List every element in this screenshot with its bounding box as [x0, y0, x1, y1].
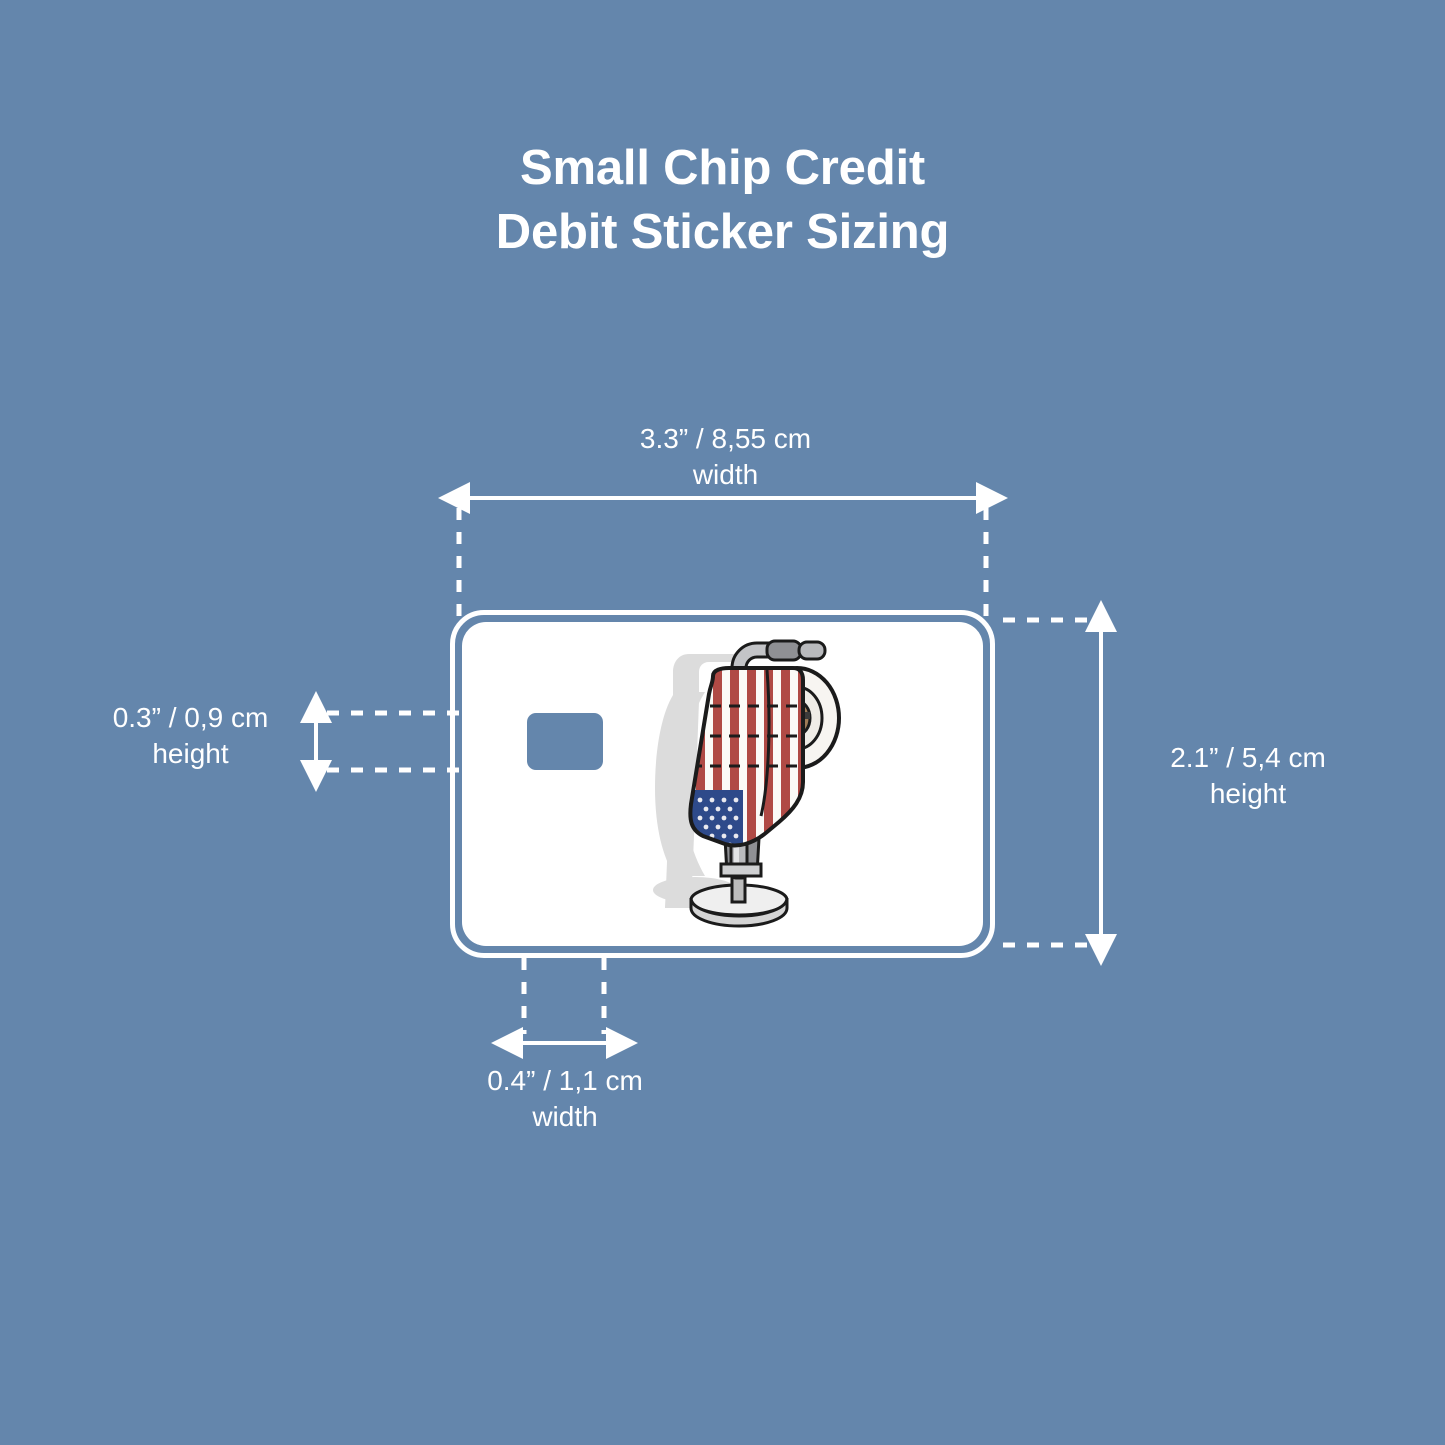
card-chip — [527, 713, 603, 770]
label-width-top-value: 3.3” / 8,55 cm — [640, 423, 811, 454]
label-chip-height-left-unit: height — [78, 736, 303, 772]
dimension-height-right — [1003, 620, 1101, 945]
label-chip-width-bottom-value: 0.4” / 1,1 cm — [487, 1065, 643, 1096]
label-width-top: 3.3” / 8,55 cm width — [528, 421, 923, 493]
label-height-right-value: 2.1” / 5,4 cm — [1170, 742, 1326, 773]
label-height-right-unit: height — [1118, 776, 1378, 812]
dimension-width-top — [459, 498, 986, 622]
sizing-diagram: Small Chip Credit Debit Sticker Sizing — [0, 0, 1445, 1445]
label-chip-width-bottom: 0.4” / 1,1 cm width — [434, 1063, 696, 1135]
card-artwork-american-flag-toilet-paper-icon — [617, 632, 947, 942]
label-chip-width-bottom-unit: width — [434, 1099, 696, 1135]
page-title-line-1: Small Chip Credit — [0, 136, 1445, 200]
dimension-chip-height-left — [316, 713, 470, 770]
label-chip-height-left-value: 0.3” / 0,9 cm — [113, 702, 269, 733]
label-height-right: 2.1” / 5,4 cm height — [1118, 740, 1378, 812]
label-chip-height-left: 0.3” / 0,9 cm height — [78, 700, 303, 772]
american-flag-sheet — [677, 652, 827, 872]
dimension-chip-width-bottom — [519, 958, 610, 1043]
label-width-top-unit: width — [528, 457, 923, 493]
page-title: Small Chip Credit Debit Sticker Sizing — [0, 136, 1445, 264]
credit-card-preview — [462, 622, 983, 946]
page-title-line-2: Debit Sticker Sizing — [0, 200, 1445, 264]
